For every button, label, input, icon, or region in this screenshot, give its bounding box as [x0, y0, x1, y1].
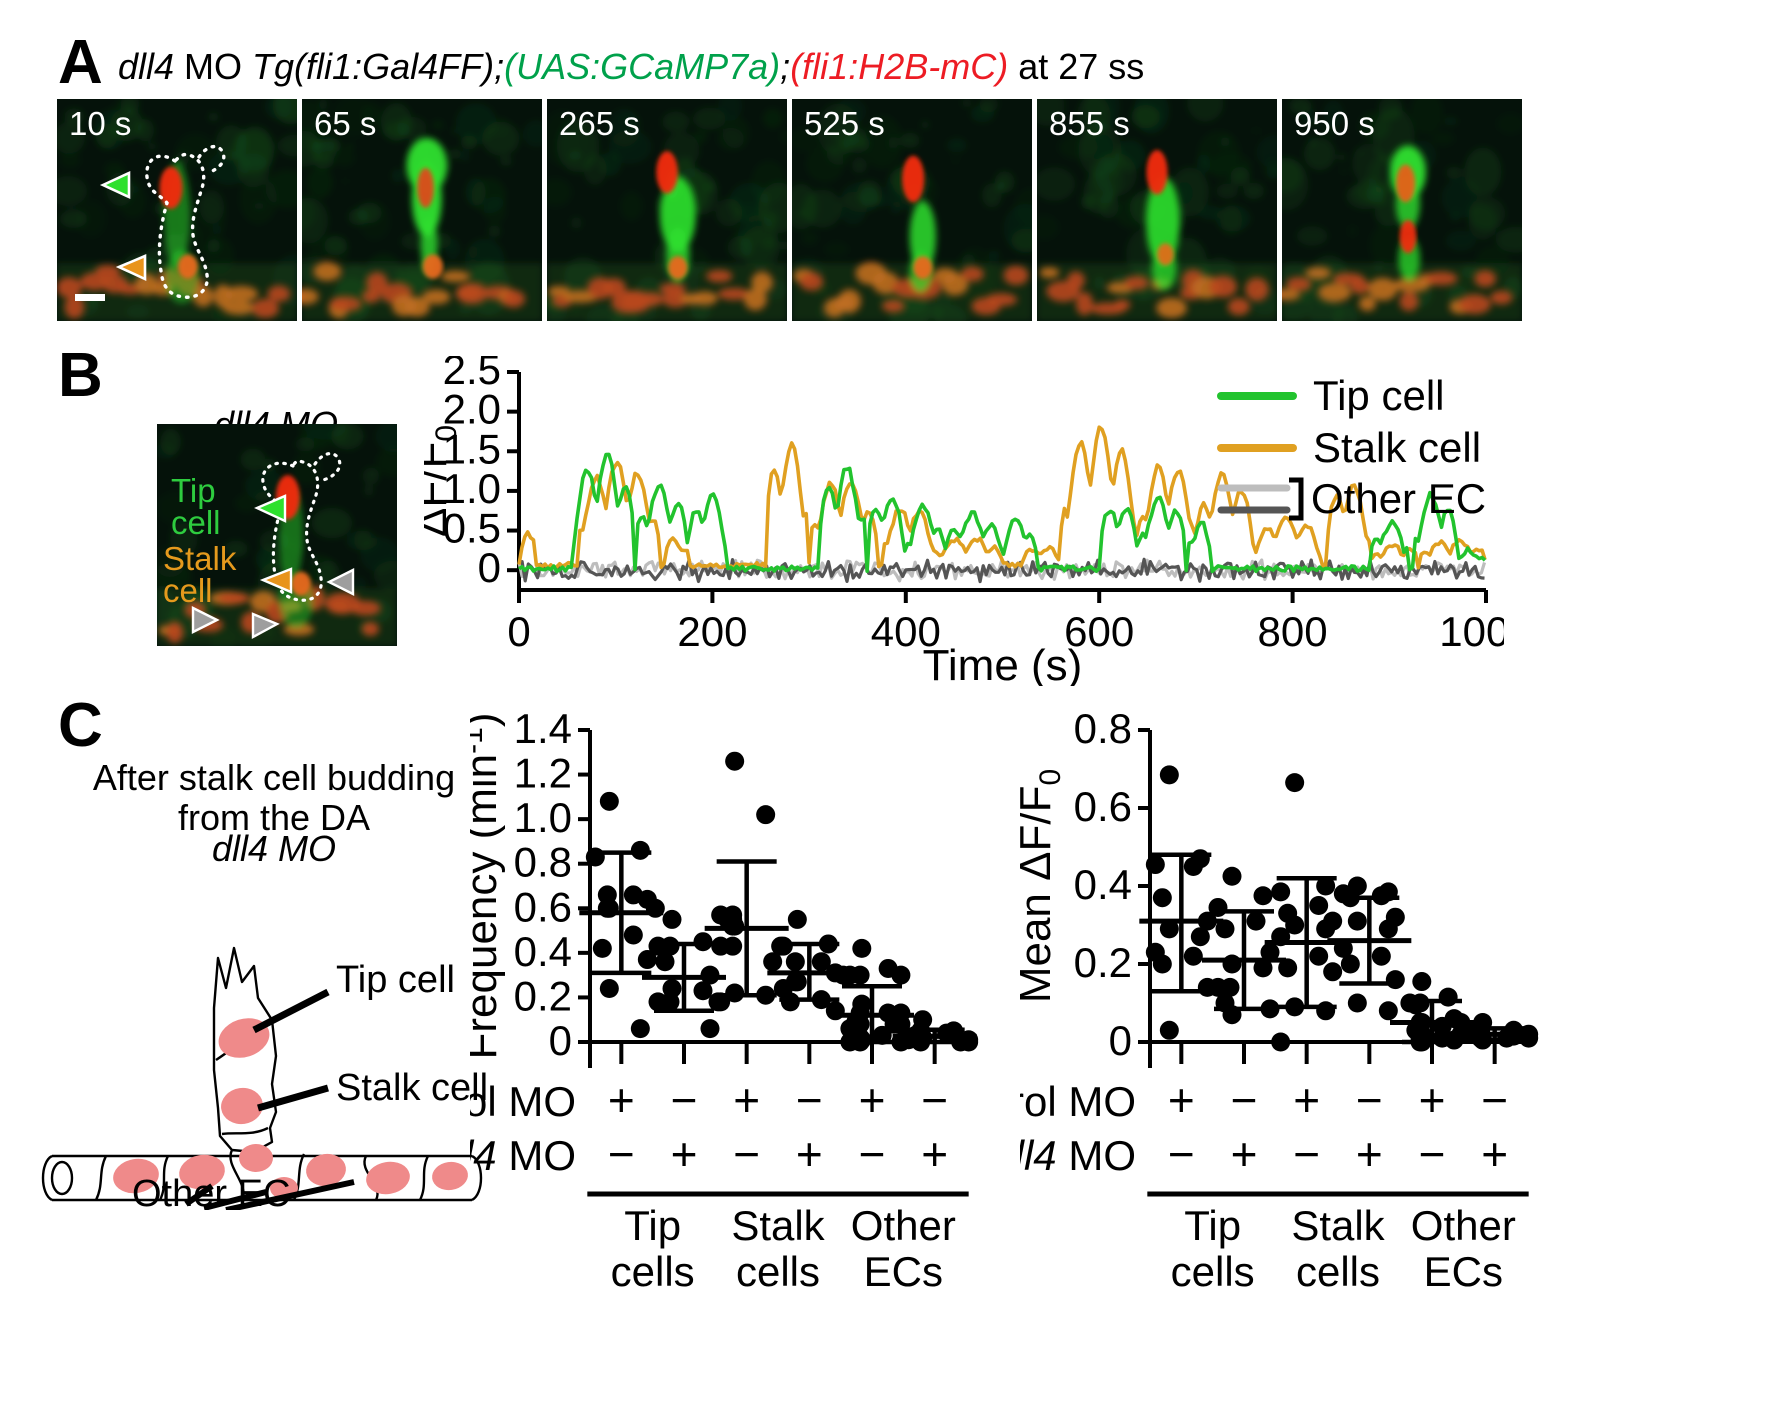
panel-a-time-label: 855 s [1049, 105, 1130, 143]
frequency-chart-control-mo-sign: + [859, 1074, 886, 1126]
mean-dff-chart-control-mo-sign: − [1231, 1074, 1258, 1126]
mean-dff-chart-point [1285, 997, 1304, 1016]
frequency-chart-point [911, 1033, 930, 1052]
frequency-chart-point [756, 986, 775, 1005]
cell-boundary-2 [222, 1128, 268, 1134]
mean-dff-chart-point [1223, 867, 1242, 886]
panel-b-xtick: 200 [677, 608, 747, 655]
mean-dff-chart-group-label: cells [1296, 1248, 1380, 1295]
mean-dff-chart-dll4-mo-sign: − [1419, 1128, 1446, 1180]
panel-c-letter: C [58, 695, 103, 757]
mean-dff-chart-ylabel: Mean ΔF/F0 [1020, 769, 1067, 1003]
mean-dff-chart-point [1153, 955, 1172, 974]
panel-a-frame: 950 s [1282, 99, 1522, 321]
mean-dff-chart-point [1386, 970, 1405, 989]
diagram-label-tip-cell: Tip cell [336, 959, 455, 1001]
mean-dff-chart-point [1379, 1001, 1398, 1020]
frequency-chart-point [586, 848, 605, 867]
frequency-chart-point [711, 992, 730, 1011]
mean-dff-chart-point [1406, 995, 1425, 1014]
panel-c-mean-dff-chart: 00.20.40.60.8Mean ΔF/F0Control MOdll4 MO… [1020, 712, 1540, 1332]
panel-a-frame: 525 s [792, 99, 1032, 321]
panel-c-diagram-svg: Tip cellStalk cellOther EC [36, 870, 506, 1210]
frequency-chart-dll4-mo-sign: − [859, 1128, 886, 1180]
frequency-chart-point [756, 805, 775, 824]
frequency-chart-group-label: ECs [864, 1248, 943, 1295]
panel-a-title-segment-1: MO [174, 46, 252, 87]
panel-b-inset-image: TipcellStalkcell [157, 424, 397, 646]
legend-label-other-ec: Other EC [1311, 475, 1486, 521]
frequency-chart-ytick: 0.6 [514, 883, 572, 930]
mean-dff-chart-point [1439, 988, 1458, 1007]
frequency-chart-point [781, 992, 800, 1011]
frequency-chart-point [600, 979, 619, 998]
panel-b-xlabel: Time (s) [923, 641, 1083, 686]
panel-b-inset-label: cell [163, 572, 213, 609]
mean-dff-chart-point [1285, 773, 1304, 792]
frequency-chart-point [873, 1026, 892, 1045]
mean-dff-chart-point [1271, 1033, 1290, 1052]
mean-dff-chart-point [1216, 919, 1235, 938]
panel-a-time-label: 525 s [804, 105, 885, 143]
mean-dff-chart-row-label-control-mo: Control MO [1020, 1078, 1136, 1125]
frequency-chart-group-label: Tip [624, 1202, 681, 1249]
panel-a-title: dll4 MO Tg(fli1:Gal4FF);(UAS:GCaMP7a);(f… [118, 46, 1144, 88]
frequency-chart-ytick: 0.4 [514, 928, 572, 975]
frequency-chart-point [723, 917, 742, 936]
frequency-chart-ylabel: Frequency (min-1) [470, 712, 506, 1059]
scale-bar [75, 294, 105, 301]
frequency-chart-point [959, 1033, 978, 1052]
mean-dff-chart-point [1372, 886, 1391, 905]
frequency-chart-row-label-control-mo: Control MO [470, 1078, 576, 1125]
panel-a-frame: 265 s [547, 99, 787, 321]
mean-dff-chart-point [1160, 919, 1179, 938]
nucleus [430, 1160, 470, 1193]
mean-dff-chart-point [1254, 958, 1273, 977]
mean-dff-chart-control-mo-sign: + [1293, 1074, 1320, 1126]
mean-dff-chart-point [1160, 765, 1179, 784]
mean-dff-chart-point [1191, 927, 1210, 946]
frequency-chart-point [786, 952, 805, 971]
mean-dff-chart-point [1372, 947, 1391, 966]
mean-dff-chart-point [1309, 947, 1328, 966]
frequency-chart-ytick: 1.0 [514, 794, 572, 841]
mean-dff-chart-point [1316, 1001, 1335, 1020]
mean-dff-chart-dll4-mo-sign: − [1293, 1128, 1320, 1180]
mean-dff-chart: 00.20.40.60.8Mean ΔF/F0Control MOdll4 MO… [1020, 712, 1540, 1332]
panel-a-title-segment-2: Tg(fli1:Gal4FF); [252, 46, 504, 87]
da-junction-0 [96, 1156, 106, 1200]
panel-b-letter: B [58, 345, 103, 407]
mean-dff-chart-point [1473, 1031, 1492, 1050]
mean-dff-chart-point [1316, 877, 1335, 896]
frequency-chart-point [851, 1033, 870, 1052]
mean-dff-chart-dll4-mo-sign: + [1481, 1128, 1508, 1180]
mean-dff-chart-ytick: 0.4 [1074, 861, 1132, 908]
mean-dff-chart-control-mo-sign: + [1419, 1074, 1446, 1126]
panel-b-inset-overlay: TipcellStalkcell [157, 424, 397, 646]
frequency-chart-point [631, 841, 650, 860]
mean-dff-chart-point [1271, 927, 1290, 946]
mean-dff-chart-point [1184, 947, 1203, 966]
frequency-chart-point [600, 792, 619, 811]
frequency-chart-point [725, 752, 744, 771]
panel-a-title-segment-6: at 27 ss [1008, 46, 1144, 87]
panel-b-inset-label: cell [171, 504, 221, 541]
frequency-chart-group-label: Stalk [731, 1202, 825, 1249]
mean-dff-chart-group-label: Stalk [1291, 1202, 1385, 1249]
panel-a-title-segment-5: (fli1:H2B-mC) [790, 46, 1008, 87]
frequency-chart-dll4-mo-sign: + [671, 1128, 698, 1180]
panel-b-xtick: 800 [1258, 608, 1328, 655]
mean-dff-chart-point [1348, 912, 1367, 931]
panel-a-title-segment-4: ; [780, 46, 790, 87]
frequency-chart-control-mo-sign: + [608, 1074, 635, 1126]
frequency-chart-point [834, 966, 853, 985]
frequency-chart-point [694, 932, 713, 951]
frequency-chart-point [631, 1019, 650, 1038]
mean-dff-chart-control-mo-sign: − [1356, 1074, 1383, 1126]
frequency-chart-dll4-mo-sign: − [733, 1128, 760, 1180]
nucleus [364, 1158, 413, 1197]
mean-dff-chart-ytick: 0.8 [1074, 712, 1132, 752]
legend-label-stalk-cell: Stalk cell [1313, 424, 1481, 471]
panel-a-letter: A [58, 32, 103, 94]
mean-dff-chart-point [1271, 882, 1290, 901]
mean-dff-chart-ytick: 0.2 [1074, 939, 1132, 986]
frequency-chart-ytick: 0.2 [514, 972, 572, 1019]
panel-a-time-label: 65 s [314, 105, 376, 143]
panel-a-frame: 65 s [302, 99, 542, 321]
panel-a-title-segment-3: (UAS:GCaMP7a) [504, 46, 780, 87]
legend-label-tip-cell: Tip cell [1313, 376, 1444, 419]
mean-dff-chart-point [1247, 912, 1266, 931]
da-lumen [52, 1162, 72, 1194]
frequency-chart-point [646, 899, 665, 918]
mean-dff-chart-point [1254, 886, 1273, 905]
mean-dff-chart-point [1146, 855, 1165, 874]
mean-dff-chart-point [1411, 1033, 1430, 1052]
panel-c-frequency-chart: 00.20.40.60.81.01.21.4Frequency (min-1)C… [470, 712, 980, 1332]
figure-root: A dll4 MO Tg(fli1:Gal4FF);(UAS:GCaMP7a);… [0, 0, 1772, 1419]
frequency-chart-point [852, 939, 871, 958]
mean-dff-chart-point [1497, 1029, 1516, 1048]
mean-dff-chart-group-label: Other [1411, 1202, 1516, 1249]
frequency-chart-ytick: 0.8 [514, 839, 572, 886]
frequency-chart-dll4-mo-sign: + [921, 1128, 948, 1180]
mean-dff-chart-control-mo-sign: − [1481, 1074, 1508, 1126]
mean-dff-chart-control-mo-sign: + [1168, 1074, 1195, 1126]
mean-dff-chart-point [1184, 857, 1203, 876]
mean-dff-chart-dll4-mo-sign: + [1356, 1128, 1383, 1180]
panel-b-legend-svg: Tip cellStalk cellOther EC [1217, 376, 1657, 521]
mean-dff-chart-row-label-dll4-mo: dll4 MO [1020, 1132, 1136, 1179]
frequency-chart-point [723, 937, 742, 956]
frequency-chart-control-mo-sign: − [796, 1074, 823, 1126]
frequency-chart-row-label-dll4-mo: dll4 MO [470, 1132, 576, 1179]
mean-dff-chart-dll4-mo-sign: − [1168, 1128, 1195, 1180]
mean-dff-chart-point [1278, 958, 1297, 977]
da-junction-5 [420, 1156, 428, 1200]
frequency-chart-point [598, 899, 617, 918]
frequency-chart-point [624, 926, 643, 945]
panel-b-xtick: 0 [507, 608, 530, 655]
mean-dff-chart-group-label: ECs [1424, 1248, 1503, 1295]
mean-dff-chart-point [1309, 896, 1328, 915]
frequency-chart-ytick: 1.2 [514, 750, 572, 797]
frequency-chart-point [819, 934, 838, 953]
diagram-label-other-ec: Other EC [132, 1173, 290, 1210]
frequency-chart-point [891, 966, 910, 985]
frequency-chart-point [788, 910, 807, 929]
frequency-chart-control-mo-sign: − [671, 1074, 698, 1126]
frequency-chart-ytick: 1.4 [514, 712, 572, 752]
mean-dff-chart-point [1223, 955, 1242, 974]
mean-dff-chart-dll4-mo-sign: + [1231, 1128, 1258, 1180]
frequency-chart-point [763, 952, 782, 971]
mean-dff-chart-point [1153, 888, 1172, 907]
mean-dff-chart-point [1209, 898, 1228, 917]
legend-bracket-other-ec [1289, 480, 1301, 518]
frequency-chart: 00.20.40.60.81.01.21.4Frequency (min-1)C… [470, 712, 980, 1332]
frequency-chart-point [774, 937, 793, 956]
frequency-chart-group-label: cells [736, 1248, 820, 1295]
mean-dff-chart-point [1348, 994, 1367, 1013]
mean-dff-chart-point [1379, 919, 1398, 938]
panel-c-diagram-condition: dll4 MO [74, 828, 474, 870]
panel-c-diagram-title: After stalk cell budding from the DA [74, 758, 474, 839]
panel-a-frame: 10 s [57, 99, 297, 321]
panel-b-xtick: 1000 [1439, 608, 1504, 655]
frequency-chart-dll4-mo-sign: + [796, 1128, 823, 1180]
mean-dff-chart-point [1341, 955, 1360, 974]
frequency-chart-ytick: 0 [549, 1017, 572, 1064]
panel-b-legend: Tip cellStalk cellOther EC [1217, 376, 1657, 521]
frequency-chart-dll4-mo-sign: − [608, 1128, 635, 1180]
mean-dff-chart-point [1323, 962, 1342, 981]
panel-a-time-label: 265 s [559, 105, 640, 143]
frequency-chart-point [656, 952, 675, 971]
frequency-chart-control-mo-sign: + [733, 1074, 760, 1126]
mean-dff-chart-point [1223, 1005, 1242, 1024]
mean-dff-chart-ytick: 0.6 [1074, 783, 1132, 830]
frequency-chart-point [663, 910, 682, 929]
frequency-chart-group-label: Other [851, 1202, 956, 1249]
leader-stalk-cell [258, 1088, 328, 1108]
mean-dff-chart-ytick: 0 [1109, 1017, 1132, 1064]
diagram-label-stalk-cell: Stalk cell [336, 1067, 488, 1109]
frequency-chart-point [661, 992, 680, 1011]
panel-a-frame: 855 s [1037, 99, 1277, 321]
mean-dff-chart-point [1316, 919, 1335, 938]
mean-dff-chart-group-label: Tip [1184, 1202, 1241, 1249]
mean-dff-chart-point [1412, 972, 1431, 991]
nucleus [239, 1144, 273, 1172]
panel-b-ytick: 2.5 [443, 356, 501, 393]
panel-a-frame-row: 10 s65 s265 s525 s855 s950 s [57, 99, 1522, 321]
panel-a-title-segment-0: dll4 [118, 46, 174, 87]
panel-a-time-label: 950 s [1294, 105, 1375, 143]
panel-c-diagram-title-line1: After stalk cell budding [74, 758, 474, 798]
frequency-chart-point [851, 966, 870, 985]
frequency-chart-point [593, 939, 612, 958]
frequency-chart-group-label: cells [611, 1248, 695, 1295]
panel-a-time-label: 10 s [69, 105, 131, 143]
mean-dff-chart-point [1519, 1029, 1538, 1048]
frequency-chart-point [701, 1019, 720, 1038]
panel-c-vessel-diagram: Tip cellStalk cellOther EC [36, 870, 506, 1210]
mean-dff-chart-point [1261, 999, 1280, 1018]
mean-dff-chart-point [1341, 888, 1360, 907]
frequency-chart-control-mo-sign: − [921, 1074, 948, 1126]
mean-dff-chart-group-label: cells [1171, 1248, 1255, 1295]
mean-dff-chart-point [1160, 1021, 1179, 1040]
da-left-cap [43, 1156, 52, 1200]
